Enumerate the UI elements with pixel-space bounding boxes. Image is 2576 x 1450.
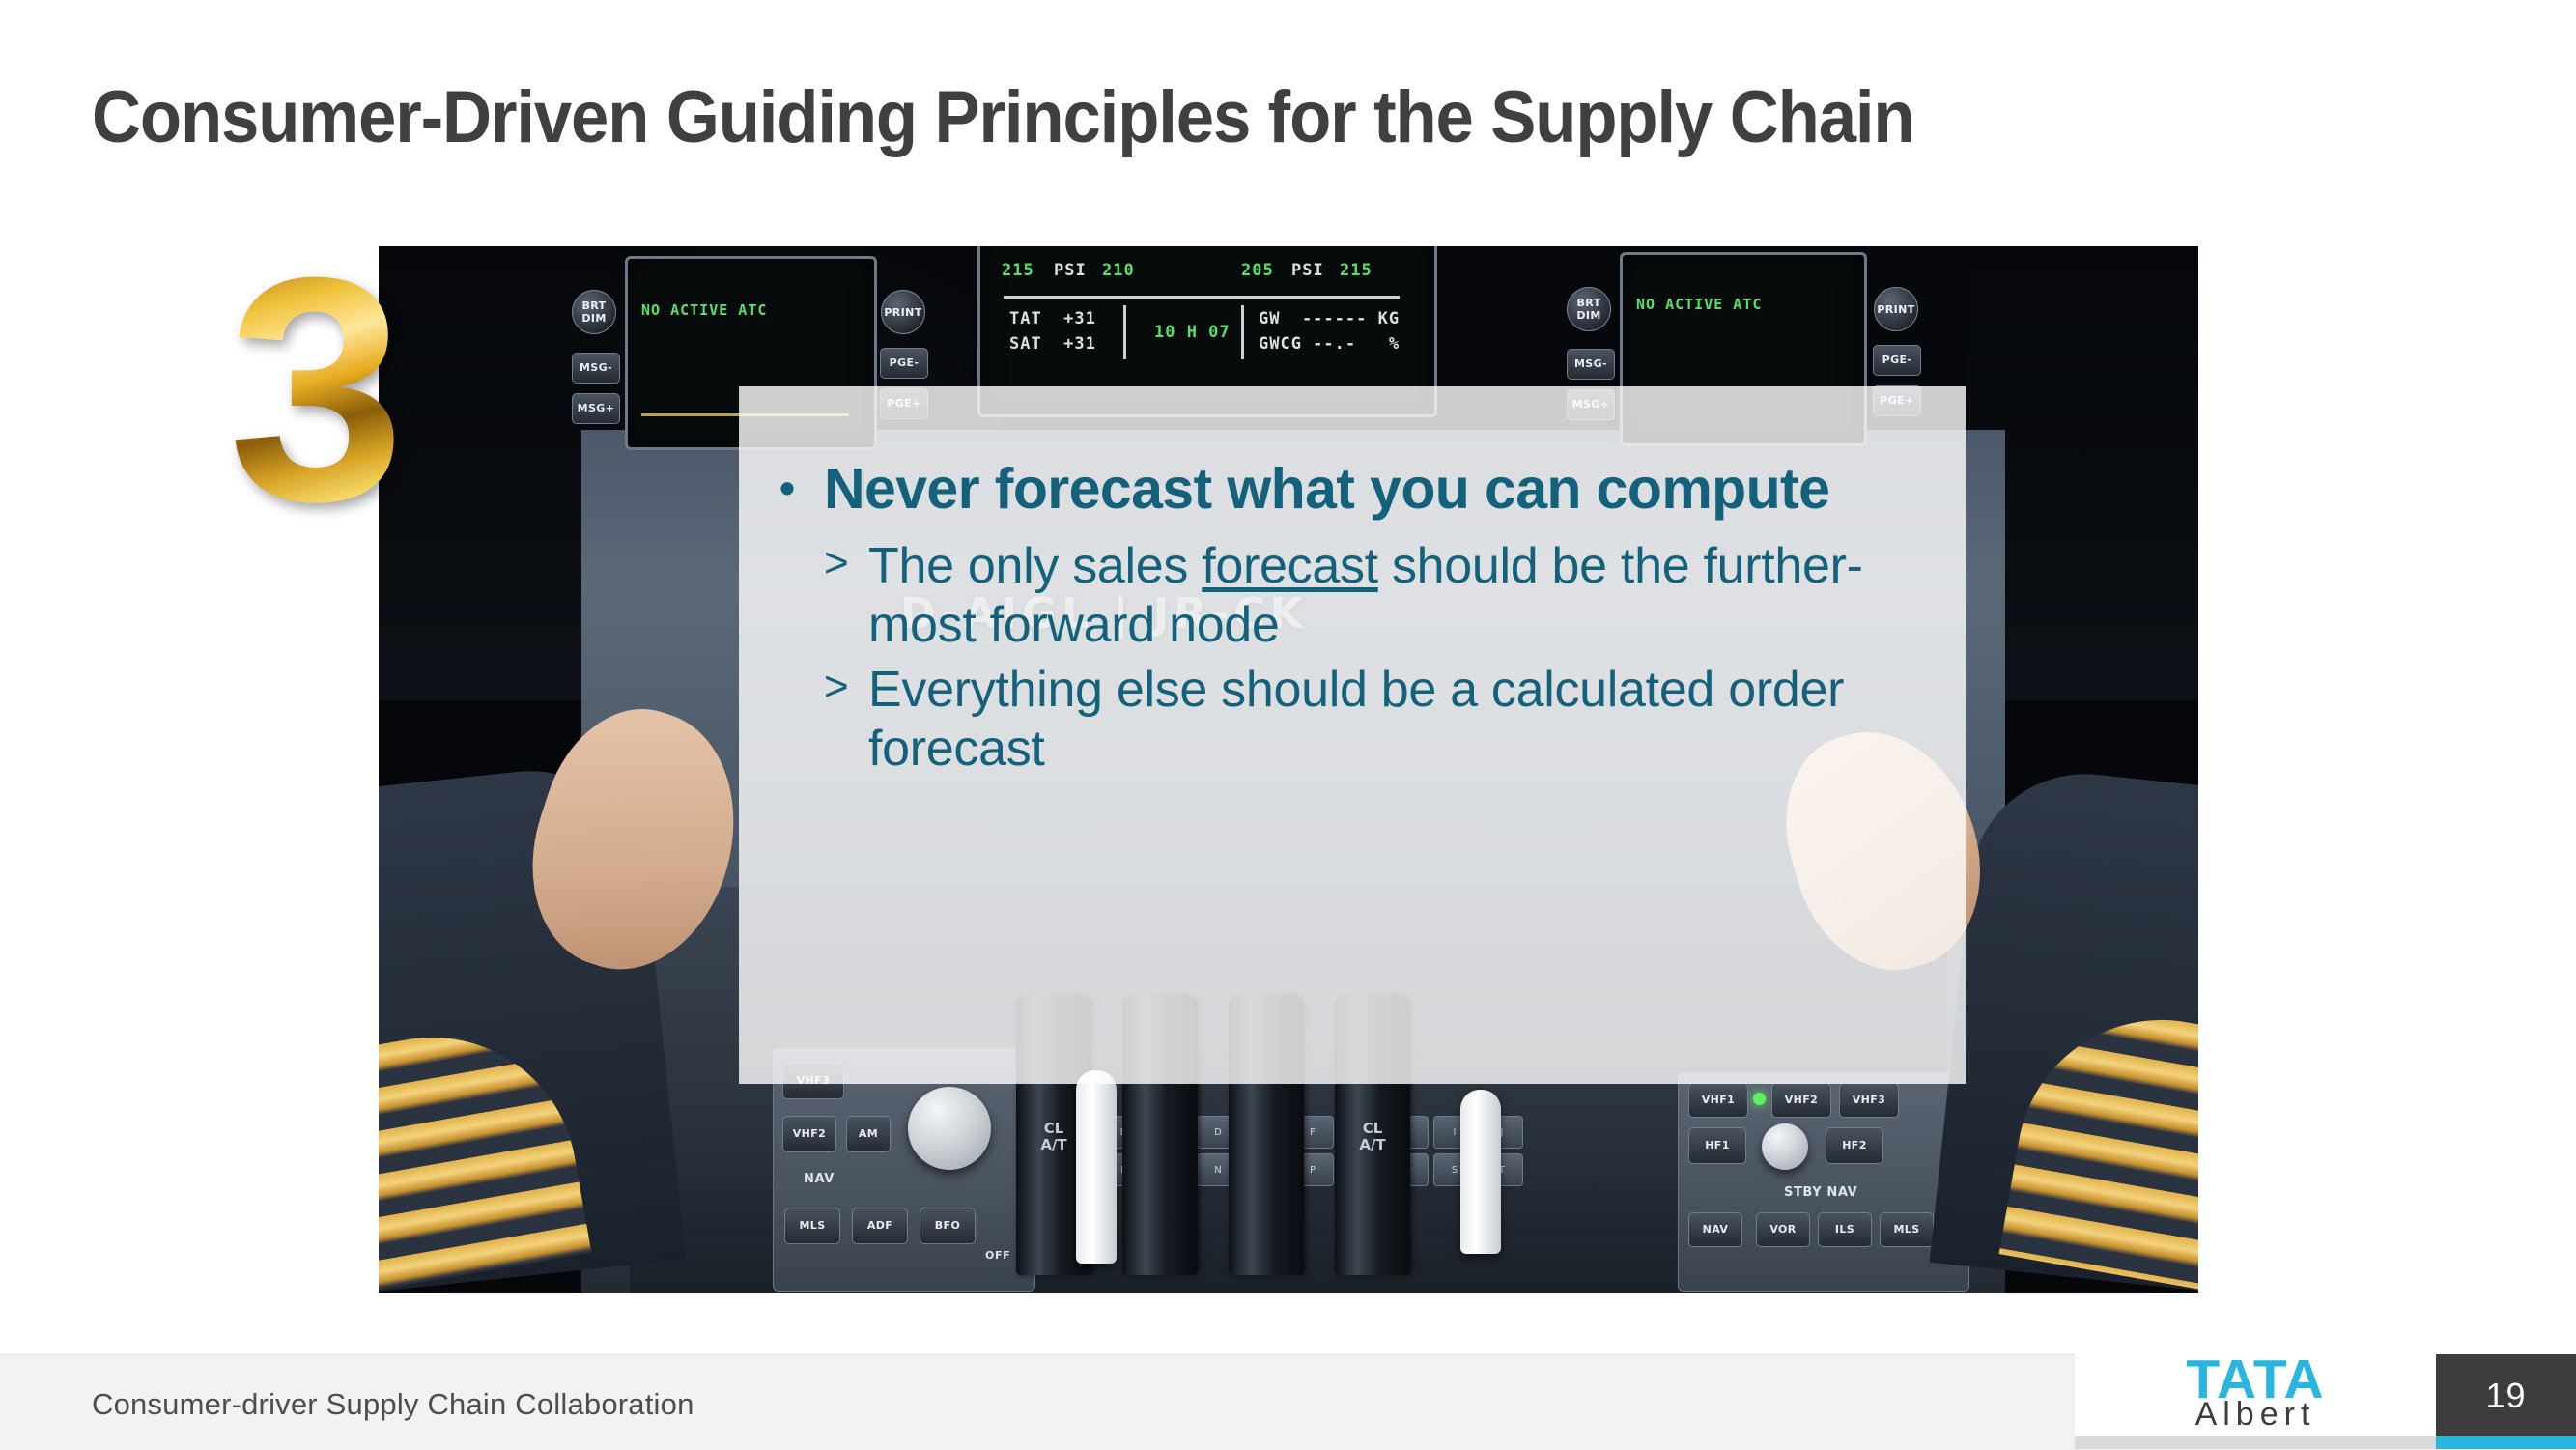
main-bullet: • Never forecast what you can compute (779, 456, 1898, 522)
main-bullet-text: Never forecast what you can compute (824, 456, 1829, 522)
logo-underbar (2075, 1436, 2436, 1449)
brt-label-right: BRT (1576, 297, 1600, 309)
psi-right-value-2: 215 (1340, 261, 1373, 280)
speedbrake-lever[interactable] (1076, 1070, 1117, 1264)
display-divider-v1 (1123, 305, 1126, 359)
pge-minus-button-right[interactable]: PGE- (1873, 345, 1921, 376)
off-label: OFF (985, 1249, 1010, 1262)
footer-text: Consumer-driver Supply Chain Collaborati… (92, 1387, 694, 1422)
tuning-knob[interactable] (908, 1087, 991, 1170)
msg-minus-button-left[interactable]: MSG- (572, 353, 620, 384)
chevron-right-icon: > (824, 661, 868, 713)
albert-wordmark: Albert (2075, 1398, 2436, 1431)
mls-button-right[interactable]: MLS (1880, 1212, 1934, 1247)
vhf3-button-right[interactable]: VHF3 (1839, 1083, 1899, 1118)
psi-left-value-1: 215 (1002, 261, 1034, 280)
gwcg-readout: GWCG --.- % (1259, 334, 1400, 354)
psi-left-value-2: 210 (1102, 261, 1135, 280)
stby-nav-label: STBY NAV (1784, 1185, 1857, 1200)
sub-bullet-list: > The only sales forecast should be the … (779, 537, 1898, 778)
throttle-left-label: CL (1044, 1120, 1064, 1137)
brt-label: BRT (581, 299, 606, 312)
vhf2-button-left[interactable]: VHF2 (782, 1116, 836, 1152)
psi-right-label: PSI (1291, 261, 1324, 280)
page-title: Consumer-Driven Guiding Principles for t… (92, 75, 2158, 159)
dim-label: DIM (581, 312, 606, 325)
ils-button[interactable]: ILS (1818, 1212, 1872, 1247)
dim-label-right: DIM (1576, 309, 1600, 322)
msg-plus-button-left[interactable]: MSG+ (572, 393, 620, 424)
nav-label-left: NAV (804, 1172, 835, 1186)
sat-readout: SAT +31 (1009, 334, 1096, 354)
tat-readout: TAT +31 (1009, 309, 1096, 328)
flap-lever[interactable] (1460, 1090, 1501, 1254)
page-number-box: 19 (2436, 1354, 2576, 1436)
msg-minus-button-right[interactable]: MSG- (1567, 349, 1615, 380)
chevron-right-icon: > (824, 537, 868, 589)
gw-readout: GW ------ KG (1259, 309, 1400, 328)
nav-button-right[interactable]: NAV (1688, 1212, 1742, 1247)
print-button-left[interactable]: PRINT (881, 290, 925, 334)
adf-button-left[interactable]: ADF (852, 1208, 908, 1244)
throttle-left-at: A/T (1040, 1136, 1066, 1153)
display-divider-horizontal (1004, 296, 1400, 299)
sub-bullet-1-before: The only sales (868, 538, 1202, 594)
vor-button[interactable]: VOR (1756, 1212, 1810, 1247)
page-number-underbar (2436, 1436, 2576, 1449)
am-button[interactable]: AM (846, 1116, 891, 1152)
throttle-right-at: A/T (1359, 1136, 1385, 1153)
principle-number-badge: 3 (228, 230, 400, 549)
hf-tuning-knob[interactable] (1762, 1123, 1808, 1170)
content-overlay-panel: • Never forecast what you can compute > … (739, 386, 1966, 1084)
atc-display-left-text: NO ACTIVE ATC (641, 301, 767, 319)
psi-right-value-1: 205 (1241, 261, 1274, 280)
bullet-dot-icon: • (779, 456, 824, 521)
brt-dim-button-right[interactable]: BRT DIM (1567, 287, 1611, 331)
list-item: > The only sales forecast should be the … (824, 537, 1898, 655)
vhf2-active-led (1753, 1093, 1766, 1105)
pge-minus-button-left[interactable]: PGE- (880, 348, 928, 379)
vhf1-button-right[interactable]: VHF1 (1688, 1083, 1748, 1118)
sub-bullet-text-1: The only sales forecast should be the fu… (868, 537, 1898, 655)
page-number: 19 (2485, 1376, 2526, 1416)
throttle-right-label: CL (1363, 1120, 1383, 1137)
hf2-button[interactable]: HF2 (1826, 1127, 1883, 1164)
brt-dim-button-left[interactable]: BRT DIM (572, 290, 616, 334)
atc-display-right-text: NO ACTIVE ATC (1636, 296, 1762, 313)
display-divider-v2 (1241, 305, 1244, 359)
sub-bullet-1-underlined: forecast (1202, 538, 1378, 594)
list-item: > Everything else should be a calculated… (824, 661, 1898, 779)
bfo-button-left[interactable]: BFO (920, 1208, 976, 1244)
vhf2-button-right[interactable]: VHF2 (1771, 1083, 1831, 1118)
mls-button-left[interactable]: MLS (784, 1208, 840, 1244)
print-button-right[interactable]: PRINT (1874, 287, 1918, 331)
psi-left-label: PSI (1054, 261, 1087, 280)
hf1-button[interactable]: HF1 (1688, 1127, 1746, 1164)
clock-readout: 10 H 07 (1154, 323, 1231, 342)
sub-bullet-text-2: Everything else should be a calculated o… (868, 661, 1898, 779)
